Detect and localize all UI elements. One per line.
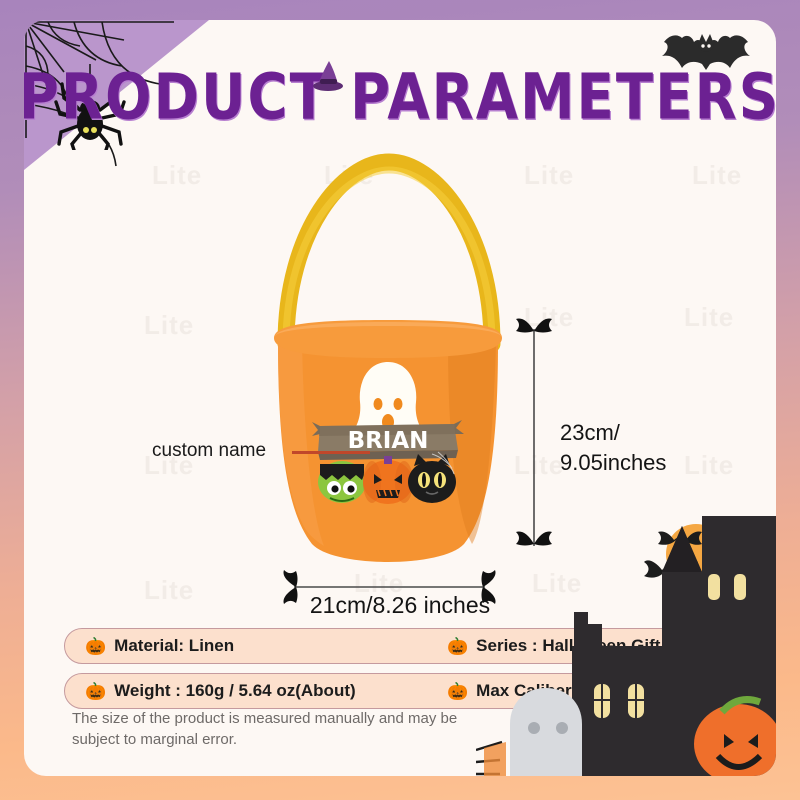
watermark: Lite (684, 450, 734, 481)
bag-handle (224, 140, 554, 350)
witch-hat-icon (312, 60, 346, 96)
watermark: Lite (144, 310, 194, 341)
spec-weight: 🎃 Weight : 160g / 5.64 oz(About) (69, 681, 443, 701)
ghost-icon (510, 688, 582, 776)
pumpkin-icon: 🎃 (447, 683, 468, 700)
bag-print-art: BRIAN (312, 358, 464, 508)
pumpkin-icon: 🎃 (85, 638, 106, 655)
spec-label: Weight : 160g / 5.64 oz(About) (114, 681, 355, 701)
page-title-wrap: PRODUCT PARAMETERS (24, 68, 776, 128)
black-cat-pumpkin-icon (408, 454, 456, 503)
haunted-house-scene (476, 516, 776, 776)
product-bag: BRIAN (224, 140, 554, 580)
watermark: Lite (692, 160, 742, 191)
spec-material: 🎃 Material: Linen (69, 636, 443, 656)
jack-o-lantern-icon (363, 456, 413, 504)
callout-leader-line (292, 451, 370, 454)
measurement-note: The size of the product is measured manu… (72, 708, 472, 750)
watermark: Lite (684, 302, 734, 333)
height-dimension-label: 23cm/ 9.05inches (560, 418, 666, 478)
frankenstein-pumpkin-icon (318, 461, 366, 503)
page-title: PRODUCT PARAMETERS (24, 61, 776, 134)
pumpkin-icon: 🎃 (85, 683, 106, 700)
custom-name-label: custom name (152, 440, 266, 462)
pumpkin-icon: 🎃 (447, 638, 468, 655)
spec-label: Material: Linen (114, 636, 234, 656)
content-card: Lite Lite Lite Lite Lite Lite Lite Lite … (24, 20, 776, 776)
